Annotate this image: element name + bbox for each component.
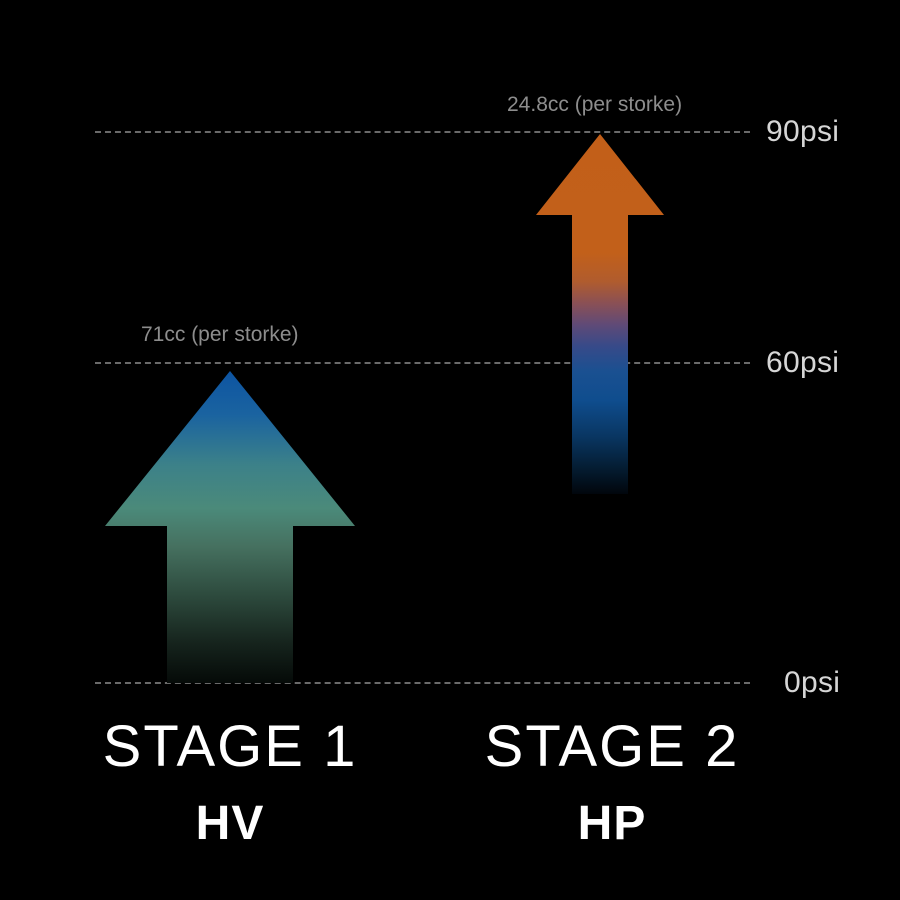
caption-stage1-code: HV	[70, 800, 390, 848]
caption-stage1-name: STAGE 1	[70, 718, 390, 776]
caption-stage1: STAGE 1 HV	[70, 718, 390, 848]
chart-canvas: 90psi 60psi 0psi 71cc (per storke) 24.8c…	[0, 0, 900, 900]
axis-tick-0psi: 0psi	[784, 668, 840, 698]
bar-arrow-stage1	[105, 371, 355, 683]
axis-tick-60psi: 60psi	[766, 348, 839, 378]
caption-stage2: STAGE 2 HP	[452, 718, 772, 848]
caption-stage2-code: HP	[452, 800, 772, 848]
gridline-90psi	[95, 131, 750, 133]
callout-stage2-volume: 24.8cc (per storke)	[507, 94, 682, 115]
bar-arrow-stage2	[536, 134, 664, 494]
caption-stage2-name: STAGE 2	[452, 718, 772, 776]
axis-tick-90psi: 90psi	[766, 117, 839, 147]
callout-stage1-volume: 71cc (per storke)	[141, 324, 299, 345]
